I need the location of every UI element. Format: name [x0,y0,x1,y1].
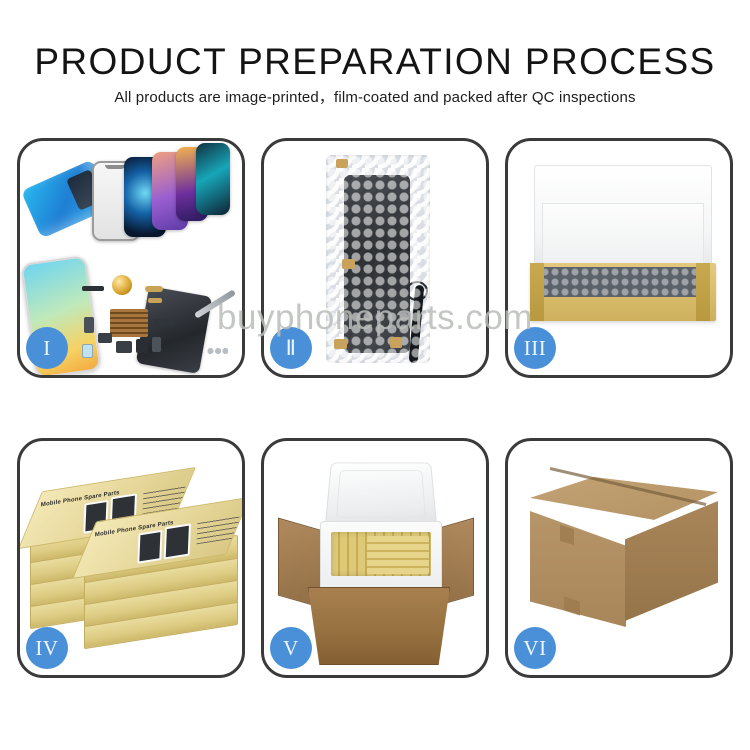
flex-cable-icon [82,286,104,291]
carton-body-icon [308,587,450,665]
step-badge-6: VI [514,627,556,669]
step-badge-5: V [270,627,312,669]
box-right-lip-icon [696,263,710,321]
tape-piece-icon [342,259,355,269]
process-step-panel-5[interactable]: V [261,438,489,678]
ribbon-cable-icon [153,319,175,325]
sim-tray-icon [152,337,161,352]
kraft-boxes-inside-icon [367,536,429,574]
step-badge-3: III [514,327,556,369]
tape-piece-icon [390,337,402,348]
process-step-panel-4[interactable]: Mobile Phone Spare Parts Mobile Phone Sp… [17,438,245,678]
box-window-icon [137,530,162,564]
foam-box-lid-icon [325,462,438,527]
process-step-panel-2[interactable]: Ⅱ [261,138,489,378]
box-window-icon [164,523,191,559]
carton-side-face-icon [625,501,718,621]
camera-module-icon [84,317,94,333]
page-title: PRODUCT PREPARATION PROCESS [0,40,750,84]
page-header: PRODUCT PREPARATION PROCESS All products… [0,0,750,128]
speaker-coil-icon [112,275,132,295]
bracket-icon [116,341,132,353]
gold-connector-icon [145,286,163,292]
screws-icon [206,347,228,355]
white-lid-front-icon [542,203,704,265]
tape-piece-icon [334,339,347,349]
tape-piece-icon [336,159,348,168]
kraft-box-tray-icon [530,263,716,321]
foam-box-body-icon [320,521,442,591]
bubble-wrap-fill-icon [540,267,706,297]
page-subtitle: All products are image-printed，film-coat… [0,88,750,108]
process-step-grid: I Ⅱ III [17,138,733,678]
gold-contact-icon [148,298,162,303]
phone-display-teal-icon [196,143,230,215]
process-step-panel-3[interactable]: III [505,138,733,378]
chip-array-icon [110,309,148,337]
process-step-panel-6[interactable]: VI [505,438,733,678]
step-badge-4: IV [26,627,68,669]
battery-cell-icon [82,344,93,358]
step-badge-2: Ⅱ [270,327,312,369]
box-left-lip-icon [530,263,544,321]
sensor-icon [136,339,148,353]
small-component-icon [98,333,112,343]
process-step-panel-1[interactable]: I [17,138,245,378]
step-badge-1: I [26,327,68,369]
